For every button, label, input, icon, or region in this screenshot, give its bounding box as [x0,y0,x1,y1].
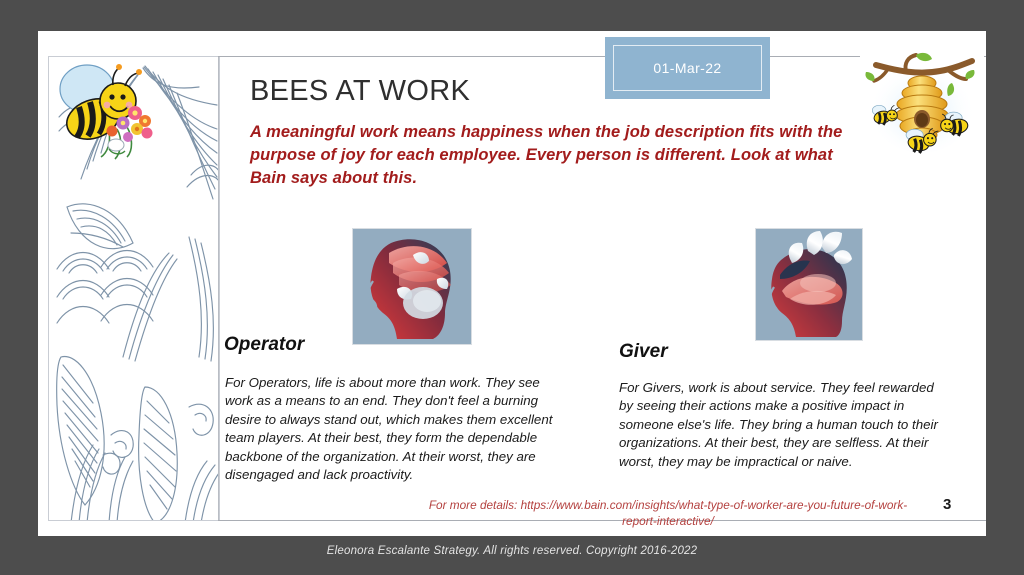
date-badge-text: 01-Mar-22 [653,60,721,76]
persona-heading-operator: Operator [224,334,304,356]
persona-heading-giver: Giver [619,341,668,363]
slide-canvas: BEES AT WORK 01-Mar-22 [38,31,986,536]
vertical-divider [218,56,219,521]
beehive-illustration [860,49,984,161]
source-link-note[interactable]: For more details: https://www.bain.com/i… [423,498,913,529]
portrait-operator [352,228,472,345]
page-number: 3 [943,496,951,513]
portrait-giver [755,228,863,341]
sidebar-floral-doodle-art [48,56,220,521]
date-badge: 01-Mar-22 [605,37,770,99]
persona-body-operator: For Operators, life is about more than w… [225,374,555,485]
page-title: BEES AT WORK [250,75,470,108]
copyright-bar: Eleonora Escalante Strategy. All rights … [0,545,1024,557]
persona-body-giver: For Givers, work is about service. They … [619,379,939,471]
lead-paragraph: A meaningful work means happiness when t… [250,121,870,190]
